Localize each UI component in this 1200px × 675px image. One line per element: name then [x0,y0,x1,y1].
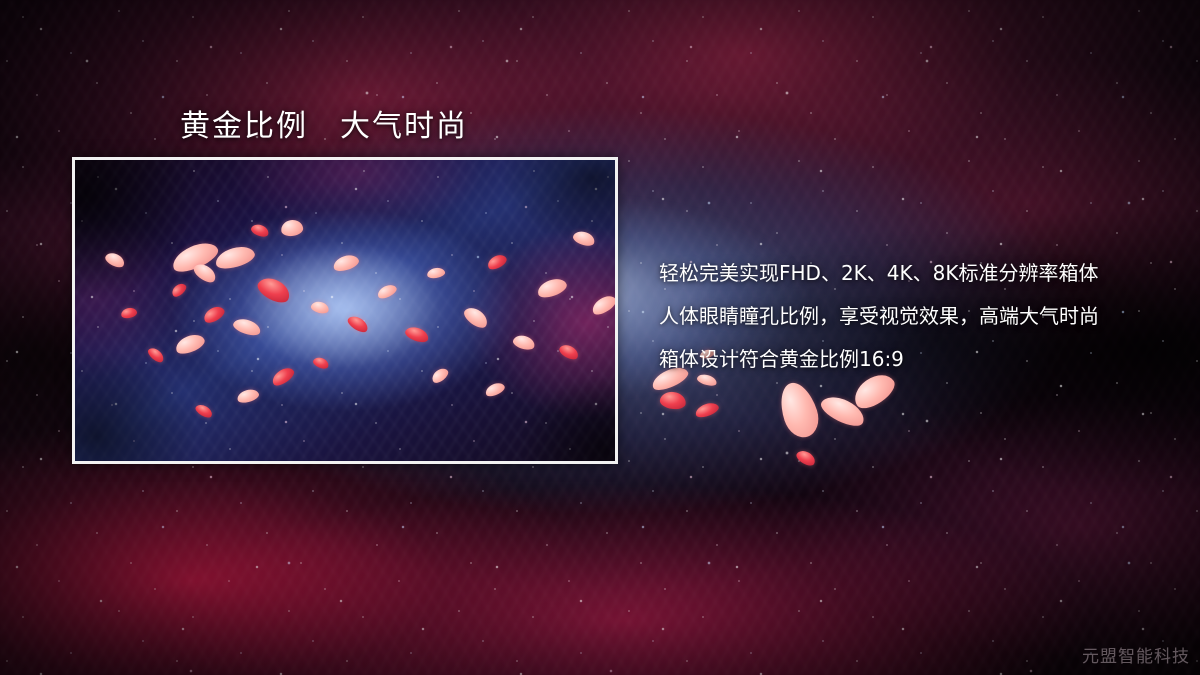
body-line: 箱体设计符合黄金比例16:9 [659,338,1159,381]
page-title: 黄金比例 大气时尚 [180,101,468,145]
watermark: 元盟智能科技 [1082,642,1190,667]
framed-photo-content [75,160,615,461]
body-line: 轻松完美实现FHD、2K、4K、8K标准分辨率箱体 [659,252,1159,295]
body-line: 人体眼睛瞳孔比例，享受视觉效果，高端大气时尚 [659,295,1159,338]
presentation-slide: 黄金比例 大气时尚 轻松完美实现FHD、2K、4K、8K标准分辨率箱体 人体眼睛… [0,0,1200,675]
photo-dark-corners [75,160,615,461]
framed-photo [72,157,618,464]
body-copy: 轻松完美实现FHD、2K、4K、8K标准分辨率箱体 人体眼睛瞳孔比例，享受视觉效… [659,252,1159,381]
